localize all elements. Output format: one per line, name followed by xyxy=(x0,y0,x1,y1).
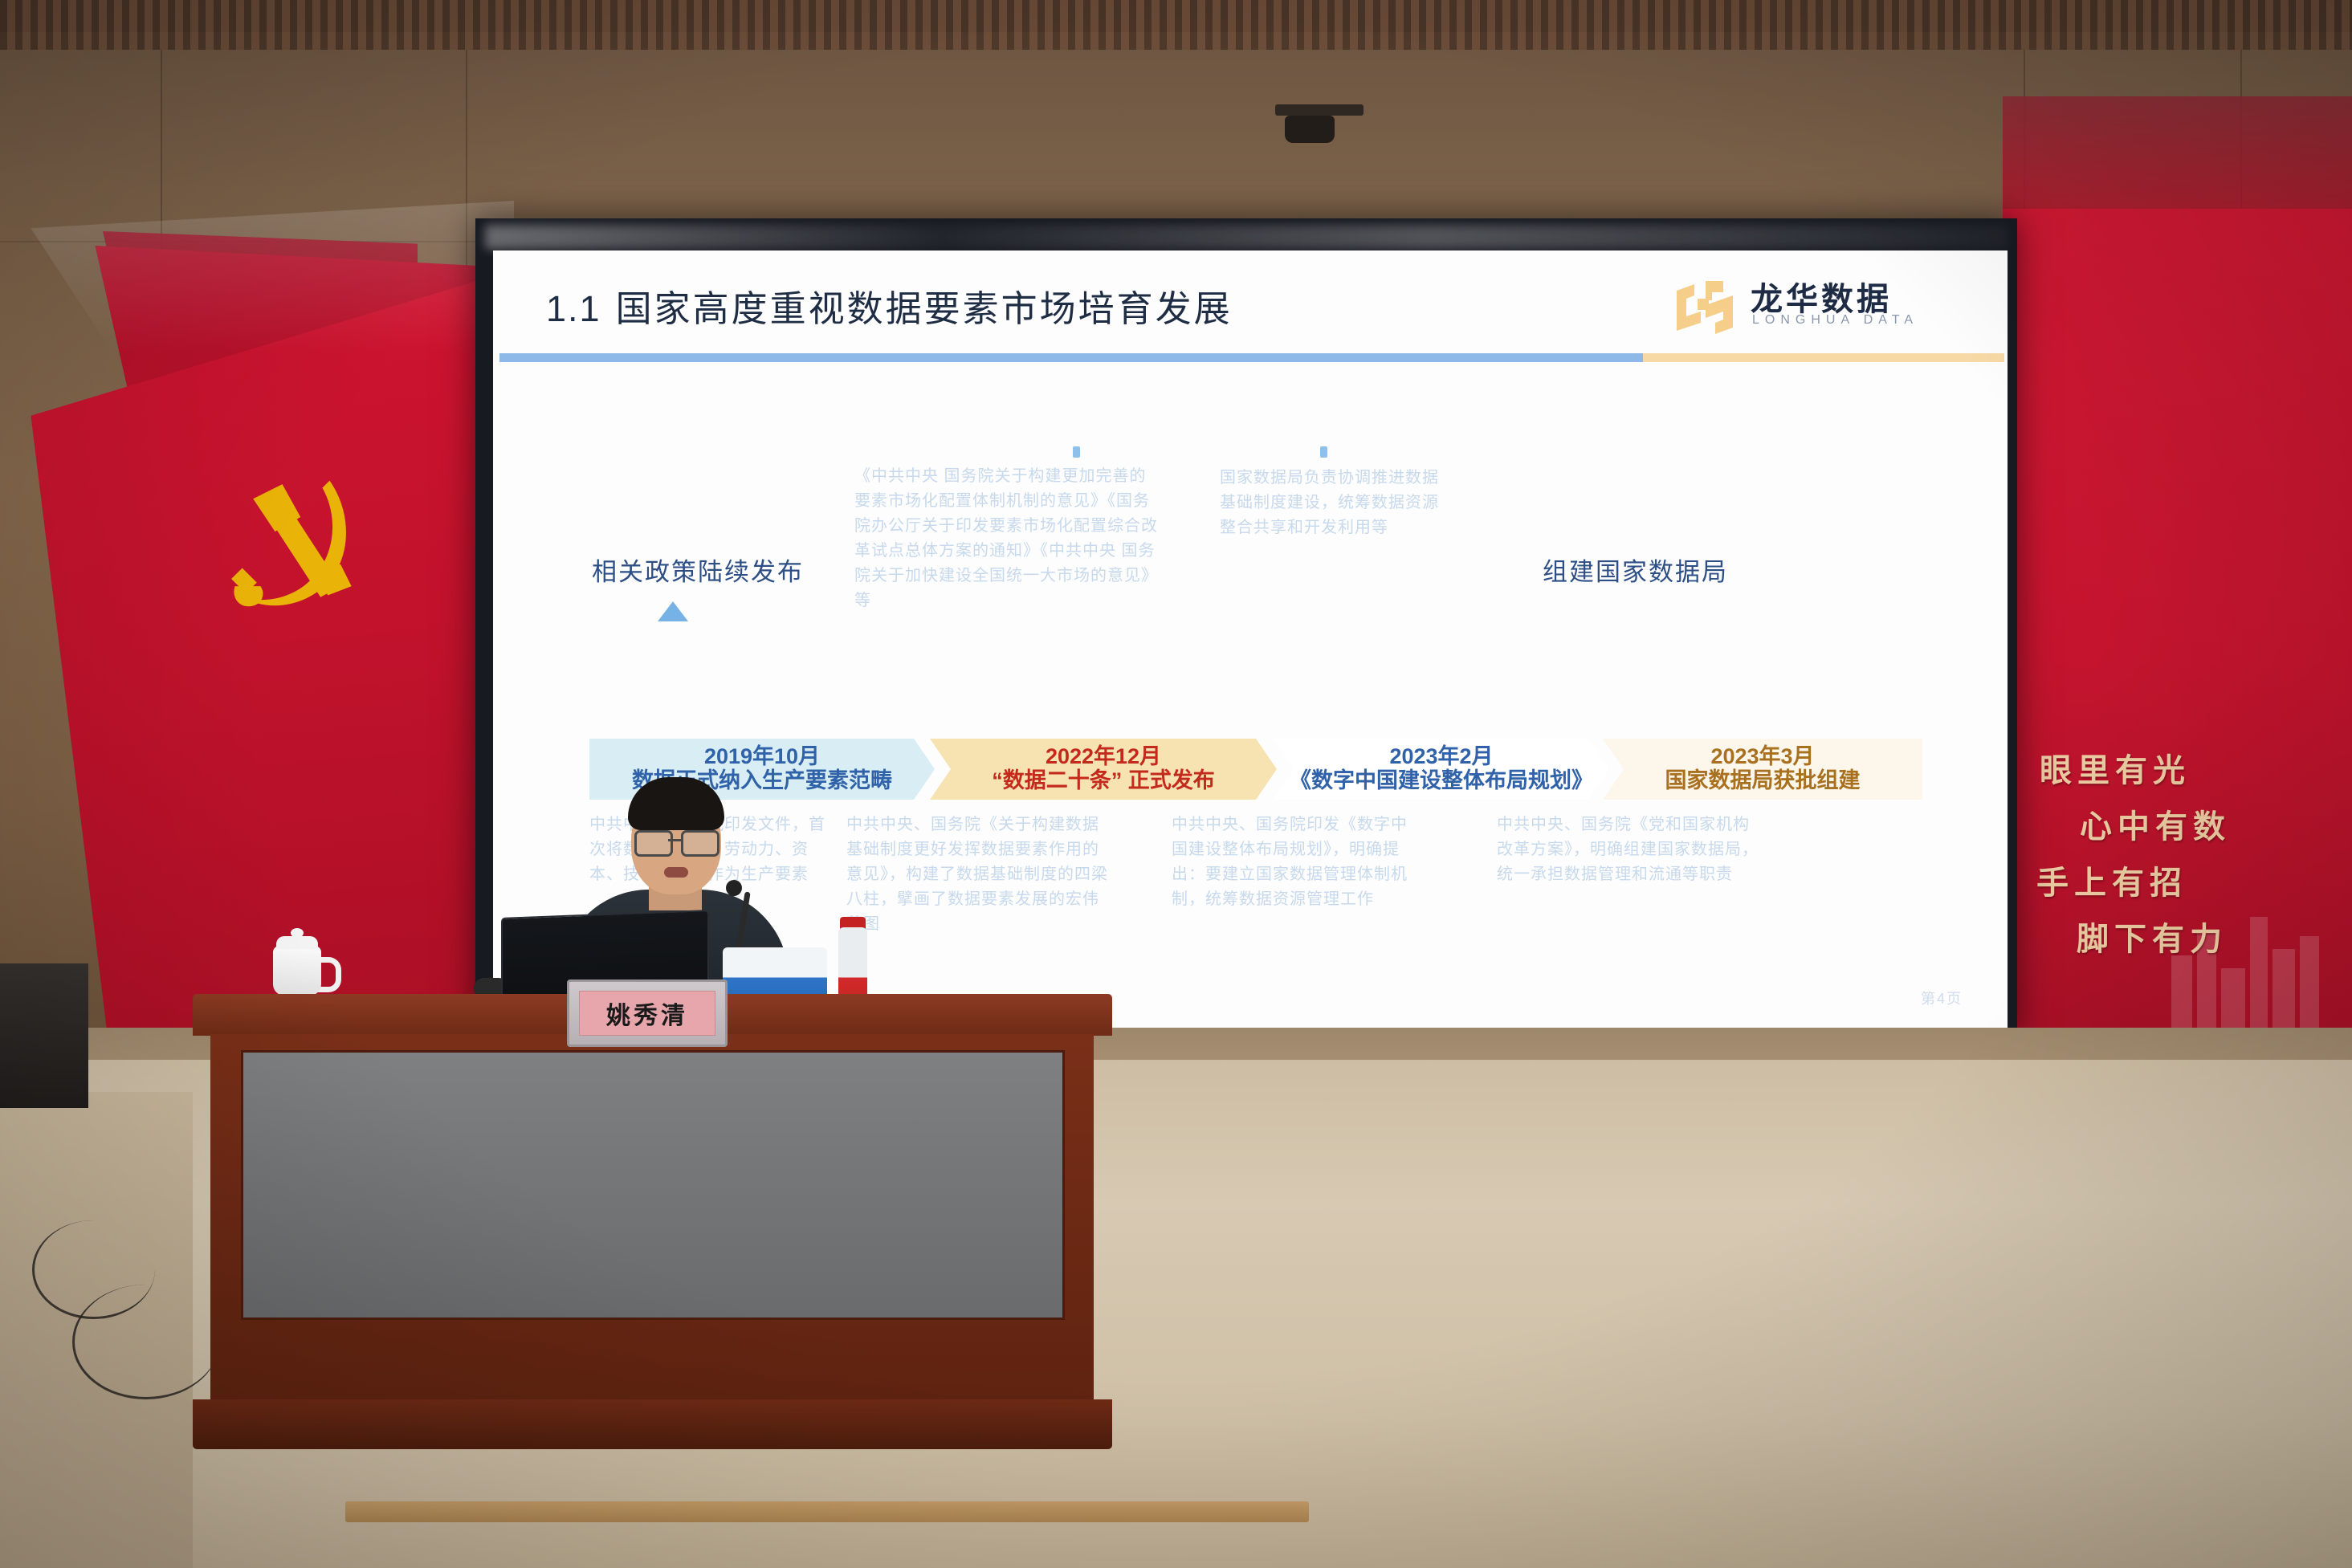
wall-slogan: 眼里有光 心中有数 手上有招 脚下有力 xyxy=(2025,755,2346,1004)
timeline-item-3-desc: 《数字中国建设整体布局规划》 xyxy=(1290,768,1593,792)
presenter-hair xyxy=(628,777,724,830)
timeline-item-4-desc: 国家数据局获批组建 xyxy=(1665,768,1861,792)
slide-note-top-2: 国家数据局负责协调推进数据基础制度建设，统筹数据资源整合共享和开发利用等 xyxy=(1220,466,1445,540)
ceiling-camera-mount xyxy=(1275,104,1364,116)
glasses-left-lens xyxy=(634,830,673,857)
timeline-item-2-date: 2022年12月 xyxy=(1046,745,1161,768)
slogan-line-4: 脚下有力 xyxy=(2077,923,2346,955)
timeline-item-1-date: 2019年10月 xyxy=(704,745,820,768)
timeline-item-4[interactable]: 2023年3月 国家数据局获批组建 xyxy=(1603,739,1922,800)
slogan-line-1: 眼里有光 xyxy=(2040,755,2346,787)
ceiling-camera xyxy=(1285,116,1335,143)
slide-title-number: 1.1 xyxy=(546,288,601,329)
wall-slat-trim xyxy=(0,0,2352,50)
slide-title: 1.1国家高度重视数据要素市场培育发展 xyxy=(546,279,1233,332)
right-wall-upper-band xyxy=(2003,96,2352,213)
slogan-line-3: 手上有招 xyxy=(2036,867,2346,899)
hammer-and-sickle-icon xyxy=(186,470,371,626)
divider-tan-segment xyxy=(1643,353,2004,362)
stage-edge xyxy=(345,1501,1309,1522)
screen-glare xyxy=(485,225,2008,249)
presenter-mouth xyxy=(664,867,688,878)
timeline-item-3-date: 2023年2月 xyxy=(1389,745,1493,768)
teacup-lid xyxy=(276,936,318,949)
microphone-head xyxy=(726,880,742,896)
logo-mark-icon xyxy=(1673,276,1736,336)
glasses-icon xyxy=(634,830,718,853)
logo-english-name: LONGHUA DATA xyxy=(1752,313,1918,328)
connector-dot xyxy=(1320,446,1327,458)
teacup-knob xyxy=(291,928,304,938)
callout-triangle-icon xyxy=(658,601,688,621)
slide-note-bottom-3: 中共中央、国务院印发《数字中国建设整体布局规划》，明确提出：要建立国家数据管理体… xyxy=(1172,813,1412,912)
callout-left-label: 相关政策陆续发布 xyxy=(592,552,804,588)
connector-dot xyxy=(1073,446,1080,458)
flag-sheen xyxy=(0,201,514,353)
floor-speaker xyxy=(0,963,88,1108)
callout-right-label: 组建国家数据局 xyxy=(1543,552,1728,588)
glasses-right-lens xyxy=(681,830,719,857)
divider-blue-segment xyxy=(499,353,1643,362)
desk-front-panel xyxy=(241,1050,1065,1320)
desk-base xyxy=(193,1399,1112,1449)
timeline-item-2-desc: “数据二十条” 正式发布 xyxy=(992,768,1215,792)
slide-note-bottom-2: 中共中央、国务院《关于构建数据基础制度更好发挥数据要素作用的意见》，构建了数据基… xyxy=(846,813,1111,937)
nameplate-insert: 姚秀清 xyxy=(579,991,715,1036)
slide-title-text: 国家高度重视数据要素市场培育发展 xyxy=(616,288,1233,329)
flag-layer-front xyxy=(0,270,514,1081)
nameplate: 姚秀清 xyxy=(567,979,728,1047)
glasses-bridge xyxy=(668,839,682,841)
speaker-desk xyxy=(193,994,1112,1452)
slide-note-bottom-4: 中共中央、国务院《党和国家机构改革方案》，明确组建国家数据局，统一承担数据管理和… xyxy=(1497,813,1762,887)
timeline-item-4-date: 2023年3月 xyxy=(1710,745,1814,768)
company-logo: 龙华数据 LONGHUA DATA xyxy=(1673,271,1938,340)
timeline-item-2[interactable]: 2022年12月 “数据二十条” 正式发布 xyxy=(930,739,1277,800)
timeline-item-3[interactable]: 2023年2月 《数字中国建设整体布局规划》 xyxy=(1274,739,1609,800)
title-divider xyxy=(493,353,2008,362)
teacup xyxy=(273,946,321,996)
slide-note-top-1: 《中共中央 国务院关于构建更加完善的要素市场化配置体制机制的意见》《国务院办公厅… xyxy=(854,464,1160,613)
slide-page-marker: 第4页 xyxy=(1921,988,1963,1008)
slogan-line-2: 心中有数 xyxy=(2080,811,2346,843)
nameplate-text: 姚秀清 xyxy=(606,996,688,1031)
presentation-room-photo: 眼里有光 心中有数 手上有招 脚下有力 1.1国家高度重视数据要素市场培育发展 … xyxy=(0,0,2352,1568)
